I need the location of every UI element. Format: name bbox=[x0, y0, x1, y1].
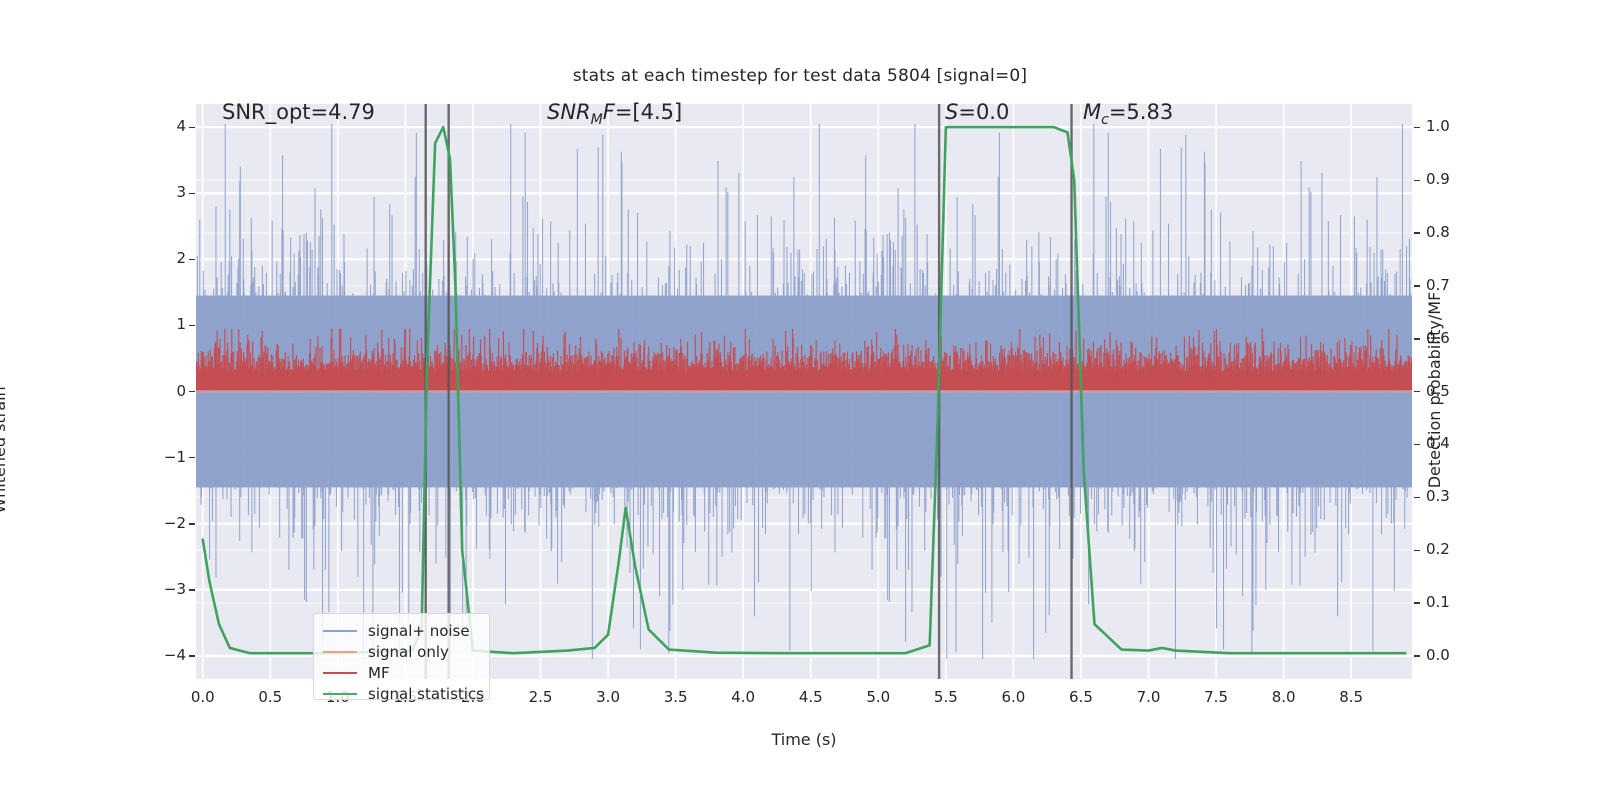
y-tick-label-left: −2 bbox=[142, 514, 186, 532]
y-tick-mark-left bbox=[189, 523, 195, 524]
y-tick-label-right: 0.4 bbox=[1426, 434, 1480, 452]
y-tick-label-left: 0 bbox=[142, 382, 186, 400]
y-tick-label-left: 1 bbox=[142, 315, 186, 333]
y-tick-mark-left bbox=[189, 457, 195, 458]
y-tick-mark-left bbox=[189, 589, 195, 590]
legend-label: signal only bbox=[368, 643, 449, 661]
y-tick-label-left: −1 bbox=[142, 448, 186, 466]
y-tick-mark-right bbox=[1414, 338, 1420, 339]
y-tick-mark-right bbox=[1414, 497, 1420, 498]
y-tick-label-left: 2 bbox=[142, 249, 186, 267]
x-tick-label: 7.0 bbox=[1119, 688, 1179, 706]
y-tick-label-right: 0.9 bbox=[1426, 170, 1480, 188]
y-tick-mark-right bbox=[1414, 127, 1420, 128]
x-tick-label: 3.0 bbox=[578, 688, 638, 706]
x-tick-label: 6.0 bbox=[983, 688, 1043, 706]
plot-area bbox=[196, 104, 1412, 679]
legend-item[interactable]: signal+ noise bbox=[314, 620, 489, 641]
x-tick-label: 6.5 bbox=[1051, 688, 1111, 706]
annotation-snr-mf: SNRMF=[4.5] bbox=[547, 100, 682, 128]
y-tick-label-right: 0.7 bbox=[1426, 276, 1480, 294]
y-tick-label-right: 0.1 bbox=[1426, 593, 1480, 611]
y-tick-label-right: 1.0 bbox=[1426, 117, 1480, 135]
legend-swatch-mf bbox=[323, 672, 357, 674]
y-tick-mark-right bbox=[1414, 285, 1420, 286]
y-tick-label-right: 0.5 bbox=[1426, 382, 1480, 400]
y-tick-label-left: −3 bbox=[142, 580, 186, 598]
y-tick-mark-right bbox=[1414, 232, 1420, 233]
y-tick-mark-right bbox=[1414, 655, 1420, 656]
legend-label: signal+ noise bbox=[368, 622, 470, 640]
legend-item[interactable]: signal only bbox=[314, 641, 489, 662]
x-tick-label: 4.0 bbox=[713, 688, 773, 706]
y-tick-mark-left bbox=[189, 193, 195, 194]
y-tick-mark-right bbox=[1414, 444, 1420, 445]
y-tick-mark-left bbox=[189, 127, 195, 128]
y-tick-label-left: 3 bbox=[142, 183, 186, 201]
y-tick-mark-right bbox=[1414, 180, 1420, 181]
legend-item[interactable]: MF bbox=[314, 662, 489, 683]
x-tick-label: 5.5 bbox=[916, 688, 976, 706]
y-tick-label-right: 0.3 bbox=[1426, 487, 1480, 505]
legend-item[interactable]: signal statistics bbox=[314, 683, 489, 704]
legend-swatch-signal-only bbox=[323, 651, 357, 653]
x-tick-label: 3.5 bbox=[646, 688, 706, 706]
x-tick-label: 7.5 bbox=[1186, 688, 1246, 706]
legend-swatch-signal-statistics bbox=[323, 693, 357, 695]
annotation-s-value: S=0.0 bbox=[945, 100, 1009, 124]
y-tick-mark-left bbox=[189, 259, 195, 260]
x-tick-label: 2.5 bbox=[511, 688, 571, 706]
legend-label: signal statistics bbox=[368, 685, 484, 703]
legend-label: MF bbox=[368, 664, 390, 682]
x-tick-label: 8.5 bbox=[1321, 688, 1381, 706]
figure-root: stats at each timestep for test data 580… bbox=[0, 0, 1600, 800]
chart-title: stats at each timestep for test data 580… bbox=[0, 66, 1600, 86]
y-tick-mark-right bbox=[1414, 550, 1420, 551]
y-tick-label-left: 4 bbox=[142, 117, 186, 135]
x-axis-label: Time (s) bbox=[196, 730, 1412, 749]
x-tick-label: 0.0 bbox=[173, 688, 233, 706]
legend: signal+ noise signal only MF signal stat… bbox=[313, 613, 490, 700]
x-tick-label: 0.5 bbox=[240, 688, 300, 706]
annotation-mchirp: Mc=5.83 bbox=[1083, 100, 1173, 128]
y-tick-mark-right bbox=[1414, 602, 1420, 603]
y-tick-label-right: 0.8 bbox=[1426, 223, 1480, 241]
y-tick-mark-left bbox=[189, 391, 195, 392]
x-tick-label: 8.0 bbox=[1254, 688, 1314, 706]
legend-swatch-signal-noise bbox=[323, 630, 357, 632]
y-tick-label-right: 0.6 bbox=[1426, 329, 1480, 347]
annotation-snr-opt: SNR_opt=4.79 bbox=[222, 100, 375, 124]
y-axis-label-left: Whitened strain bbox=[0, 300, 9, 600]
y-tick-mark-left bbox=[189, 325, 195, 326]
y-tick-label-left: −4 bbox=[142, 646, 186, 664]
x-tick-label: 4.5 bbox=[781, 688, 841, 706]
y-tick-label-right: 0.0 bbox=[1426, 646, 1480, 664]
chart-canvas bbox=[196, 104, 1412, 679]
y-tick-mark-left bbox=[189, 655, 195, 656]
x-tick-label: 5.0 bbox=[848, 688, 908, 706]
y-tick-label-right: 0.2 bbox=[1426, 540, 1480, 558]
y-tick-mark-right bbox=[1414, 391, 1420, 392]
